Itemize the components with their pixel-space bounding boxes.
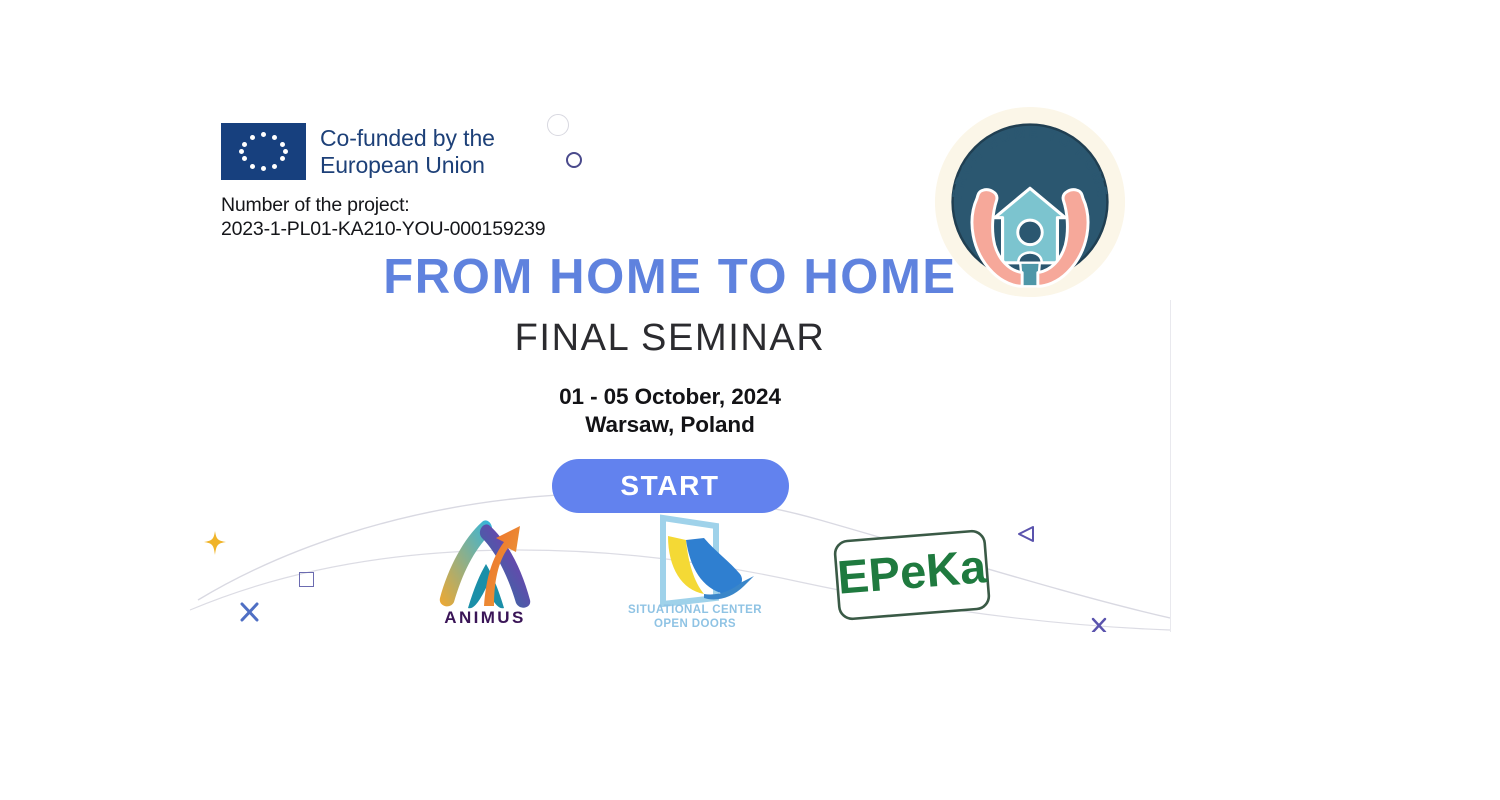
eu-cofunding-text: Co-funded by the European Union	[320, 125, 495, 179]
epeka-logo-icon: EPeKa	[828, 524, 996, 628]
partner-logo-epeka: EPeKa	[828, 524, 996, 628]
open-doors-caption: SITUATIONAL CENTER OPEN DOORS	[620, 604, 770, 631]
animus-logo-icon	[424, 512, 546, 612]
circle-outline-icon	[566, 152, 582, 168]
partner-logo-animus: ANIMUS	[424, 512, 546, 632]
eu-funding-block: Co-funded by the European Union Number o…	[221, 123, 545, 242]
animus-caption: ANIMUS	[424, 608, 546, 628]
seminar-slide-surface: Co-funded by the European Union Number o…	[0, 0, 1172, 632]
four-point-star-icon	[204, 531, 226, 555]
x-mark-icon	[240, 602, 259, 622]
square-outline-icon	[299, 572, 314, 587]
slide-right-edge-divider	[1170, 300, 1171, 632]
partner-logo-open-doors: SITUATIONAL CENTER OPEN DOORS	[620, 512, 770, 632]
headline-block: FROM HOME TO HOME FINAL SEMINAR 01 - 05 …	[0, 252, 1172, 513]
x-mark-icon	[1091, 617, 1107, 632]
circle-outline-icon	[547, 114, 569, 136]
page-subtitle: FINAL SEMINAR	[0, 319, 1172, 359]
start-button[interactable]: START	[552, 459, 789, 513]
open-doors-dove-logo-icon	[620, 512, 770, 608]
event-date-location: 01 - 05 October, 2024 Warsaw, Poland	[0, 383, 1172, 439]
eu-flag-icon	[221, 123, 306, 180]
eu-logo-row: Co-funded by the European Union	[221, 123, 545, 180]
project-number-text: Number of the project: 2023-1-PL01-KA210…	[221, 194, 545, 242]
page-title: FROM HOME TO HOME	[0, 252, 1172, 303]
triangle-outline-icon	[1016, 524, 1036, 544]
